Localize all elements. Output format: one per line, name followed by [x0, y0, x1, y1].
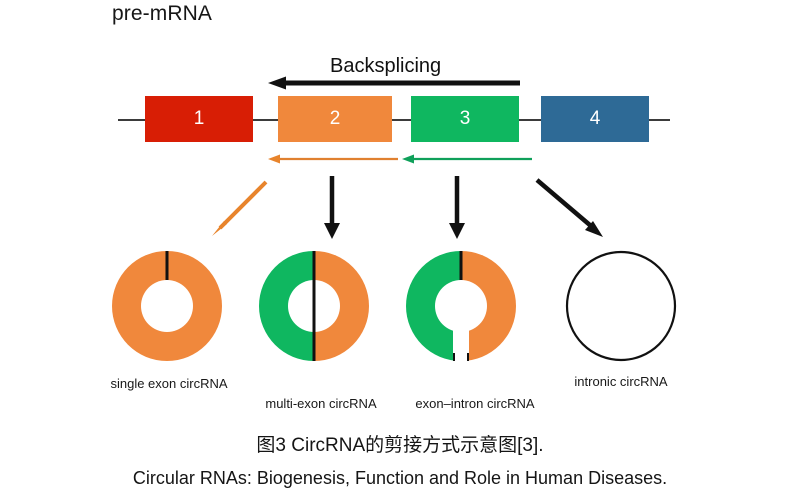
arrow-to-single-exon-icon [208, 176, 272, 240]
exon-label-4: 4 [590, 108, 601, 130]
exon-box-2: 2 [278, 96, 392, 142]
backsplicing-label: Backsplicing [330, 55, 441, 78]
intron-arrow-green-icon [402, 153, 532, 165]
figure-caption-english: Circular RNAs: Biogenesis, Function and … [0, 468, 800, 489]
arrow-to-multi-exon-icon [318, 176, 346, 240]
arrow-to-intronic-icon [533, 176, 607, 240]
exon-intron-circrna-label: exon–intron circRNA [400, 396, 550, 411]
intron-arrow-orange-icon [268, 153, 398, 165]
arrow-to-exon-intron-icon [443, 176, 471, 240]
exon-box-1: 1 [145, 96, 253, 142]
page-title: pre-mRNA [112, 2, 212, 26]
exon-label-3: 3 [460, 108, 471, 130]
multi-exon-circrna-graphic [258, 250, 370, 362]
figure-canvas: pre-mRNA Backsplicing 1 2 3 4 [0, 0, 800, 501]
exon-intron-circrna-graphic [405, 250, 517, 362]
multi-exon-circrna-label: multi-exon circRNA [251, 396, 391, 411]
intronic-circrna-graphic [565, 250, 677, 362]
exon-box-4: 4 [541, 96, 649, 142]
figure-caption-chinese: 图3 CircRNA的剪接方式示意图[3]. [0, 430, 800, 457]
backsplicing-arrow-icon [268, 76, 520, 90]
exon-box-3: 3 [411, 96, 519, 142]
single-exon-circrna-label: single exon circRNA [104, 376, 234, 391]
single-exon-circrna-graphic [111, 250, 223, 362]
exon-label-1: 1 [194, 108, 205, 130]
exon-label-2: 2 [330, 108, 341, 130]
intronic-circrna-label: intronic circRNA [556, 374, 686, 389]
